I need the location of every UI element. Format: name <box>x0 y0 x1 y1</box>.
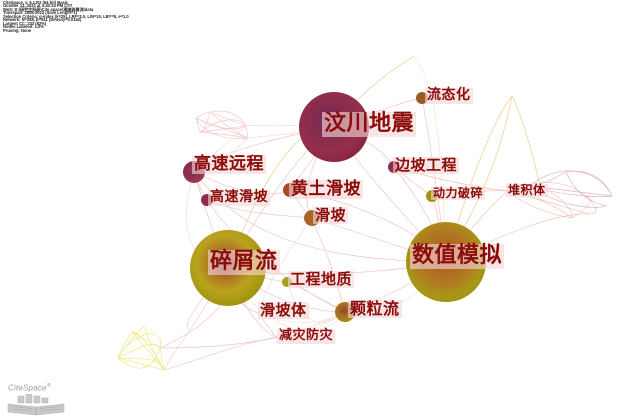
citespace-logo: CiteSpace® <box>4 383 70 417</box>
node-label-fluidization[interactable]: 流态化 <box>425 88 473 104</box>
node-label-disaster-mitigation[interactable]: 减灾防灾 <box>277 329 335 344</box>
node-label-landslide-mass[interactable]: 滑坡体 <box>258 302 309 319</box>
node-label-numerical-simulation[interactable]: 数值模拟 <box>410 244 504 269</box>
metadata-panel: CiteSpace, v. 6.1.R2 (64-bit) Basic Octo… <box>3 1 129 32</box>
citespace-visualization: CiteSpace, v. 6.1.R2 (64-bit) Basic Octo… <box>0 0 633 420</box>
node-label-landslide[interactable]: 滑坡 <box>313 207 348 224</box>
citespace-logo-text: CiteSpace® <box>8 383 51 393</box>
edge-cluster-yellow-upper <box>228 56 540 268</box>
edge-layer <box>118 56 612 370</box>
node-label-high-speed-landslide[interactable]: 高速滑坡 <box>208 190 270 206</box>
node-label-granular-flow[interactable]: 颗粒流 <box>348 300 402 318</box>
node-label-wenchuan-earthquake[interactable]: 汶川地震 <box>322 112 416 137</box>
node-label-debris-flow[interactable]: 碎屑流 <box>208 250 280 275</box>
node-label-high-speed-long-runout[interactable]: 高速远程 <box>192 155 266 174</box>
edge-cluster-yellow-bottom-left <box>118 326 164 370</box>
node-label-dynamic-fragmentation[interactable]: 动力破碎 <box>431 187 485 200</box>
node-label-loess-landslide[interactable]: 黄土滑坡 <box>289 180 363 199</box>
open-book-icon <box>4 394 70 416</box>
metadata-pruning: Pruning: None <box>3 29 129 32</box>
node-label-slope-engineering[interactable]: 边坡工程 <box>393 157 459 174</box>
edge-cluster-upper-left <box>196 111 248 138</box>
node-label-engineering-geology[interactable]: 工程地质 <box>288 271 354 288</box>
node-label-accumulation-body[interactable]: 堆积体 <box>506 184 548 197</box>
